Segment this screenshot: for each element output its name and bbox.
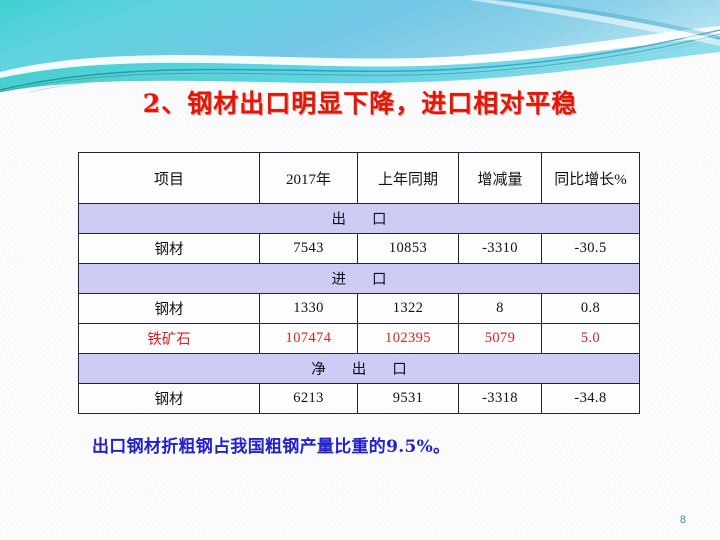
cell-growth: -30.5 — [542, 234, 640, 264]
cell-change: 8 — [459, 294, 542, 324]
cell-change: 5079 — [459, 324, 542, 354]
column-header-growth: 同比增长% — [542, 153, 640, 204]
row-name: 钢材 — [79, 294, 260, 324]
cell-2017: 7543 — [260, 234, 358, 264]
slide-canvas: 2、钢材出口明显下降，进口相对平稳 项目 2017年 上年同期 增减量 同比增长… — [0, 0, 720, 540]
steel-trade-table: 项目 2017年 上年同期 增减量 同比增长% 出口 钢材 7543 10853… — [78, 152, 640, 414]
column-header-prior: 上年同期 — [358, 153, 459, 204]
table-row: 钢材 6213 9531 -3318 -34.8 — [79, 384, 640, 414]
table-row-highlighted: 铁矿石 107474 102395 5079 5.0 — [79, 324, 640, 354]
page-number: 8 — [680, 514, 686, 526]
column-header-change: 增减量 — [459, 153, 542, 204]
slide-title: 2、钢材出口明显下降，进口相对平稳 — [0, 84, 720, 120]
row-name: 钢材 — [79, 384, 260, 414]
cell-growth: 0.8 — [542, 294, 640, 324]
cell-prior: 1322 — [358, 294, 459, 324]
row-name: 钢材 — [79, 234, 260, 264]
cell-prior: 10853 — [358, 234, 459, 264]
cell-growth: -34.8 — [542, 384, 640, 414]
table-row: 钢材 1330 1322 8 0.8 — [79, 294, 640, 324]
row-name: 铁矿石 — [79, 324, 260, 354]
section-row-import: 进口 — [79, 264, 640, 294]
section-label-export-text: 出口 — [306, 208, 413, 229]
cell-growth: 5.0 — [542, 324, 640, 354]
cell-prior: 9531 — [358, 384, 459, 414]
section-label-net-export-text: 净出口 — [285, 358, 433, 379]
section-row-net-export: 净出口 — [79, 354, 640, 384]
header-wave-decoration — [0, 0, 720, 92]
cell-2017: 6213 — [260, 384, 358, 414]
section-label-import: 进口 — [79, 264, 640, 294]
table-body: 出口 钢材 7543 10853 -3310 -30.5 进口 钢材 1330 … — [79, 204, 640, 414]
footnote-text: 出口钢材折粗钢占我国粗钢产量比重的9.5%。 — [92, 432, 450, 457]
section-label-export: 出口 — [79, 204, 640, 234]
table-header-row: 项目 2017年 上年同期 增减量 同比增长% — [79, 153, 640, 204]
section-row-export: 出口 — [79, 204, 640, 234]
section-label-net-export: 净出口 — [79, 354, 640, 384]
cell-change: -3318 — [459, 384, 542, 414]
column-header-2017: 2017年 — [260, 153, 358, 204]
section-label-import-text: 进口 — [306, 268, 413, 289]
table-row: 钢材 7543 10853 -3310 -30.5 — [79, 234, 640, 264]
cell-change: -3310 — [459, 234, 542, 264]
cell-2017: 107474 — [260, 324, 358, 354]
column-header-item: 项目 — [79, 153, 260, 204]
cell-2017: 1330 — [260, 294, 358, 324]
table-header: 项目 2017年 上年同期 增减量 同比增长% — [79, 153, 640, 204]
cell-prior: 102395 — [358, 324, 459, 354]
